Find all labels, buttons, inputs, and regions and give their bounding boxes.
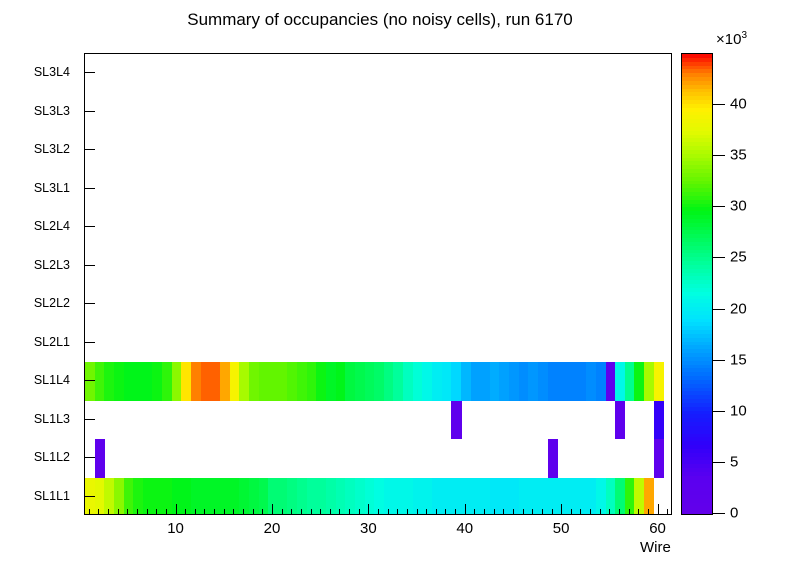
x-tick-minor	[590, 509, 591, 515]
x-tick-minor	[339, 509, 340, 515]
heatmap-cell	[654, 362, 664, 401]
x-tick-minor	[571, 509, 572, 515]
x-tick-minor	[436, 509, 437, 515]
x-tick-label-30: 30	[360, 520, 377, 537]
y-axis: SL3L4SL3L3SL3L2SL3L1SL2L4SL2L3SL2L2SL2L1…	[0, 53, 84, 515]
colorbar-tick-mark	[713, 104, 725, 105]
x-tick-minor	[600, 509, 601, 515]
x-tick-minor	[253, 509, 254, 515]
x-tick-minor	[484, 509, 485, 515]
y-tick-label-sl1l1: SL1L1	[34, 489, 70, 503]
colorbar-tick-label-20: 20	[730, 300, 747, 317]
x-tick-minor	[282, 509, 283, 515]
x-tick-minor	[503, 509, 504, 515]
y-tick-label-sl3l2: SL3L2	[34, 142, 70, 156]
x-tick-label-60: 60	[649, 520, 666, 537]
x-tick-minor	[195, 509, 196, 515]
x-tick-minor	[330, 509, 331, 515]
x-tick-minor	[127, 509, 128, 515]
x-tick-label-10: 10	[167, 520, 184, 537]
y-tick-mark	[84, 419, 95, 420]
colorbar-tick-mark	[713, 462, 725, 463]
x-tick-major	[272, 504, 273, 515]
x-tick-minor	[262, 509, 263, 515]
y-tick-mark	[84, 226, 95, 227]
colorbar-tick-label-35: 35	[730, 147, 747, 164]
x-tick-major	[176, 504, 177, 515]
y-tick-label-sl3l4: SL3L4	[34, 65, 70, 79]
x-tick-minor	[166, 509, 167, 515]
colorbar-tick-label-40: 40	[730, 96, 747, 113]
x-tick-minor	[455, 509, 456, 515]
y-tick-mark	[84, 265, 95, 266]
heatmap-cell	[451, 401, 461, 440]
y-tick-mark	[84, 111, 95, 112]
x-tick-minor	[629, 509, 630, 515]
x-tick-minor	[417, 509, 418, 515]
colorbar-tick-mark	[713, 360, 725, 361]
y-tick-mark	[84, 380, 95, 381]
colorbar-tick-label-10: 10	[730, 402, 747, 419]
x-tick-minor	[474, 509, 475, 515]
x-tick-minor	[349, 509, 350, 515]
y-tick-label-sl2l3: SL2L3	[34, 258, 70, 272]
heatmap-cell	[654, 439, 664, 478]
colorbar-tick-label-30: 30	[730, 198, 747, 215]
colorbar-tick-label-15: 15	[730, 351, 747, 368]
x-tick-minor	[532, 509, 533, 515]
x-tick-minor	[397, 509, 398, 515]
heatmap-cell	[644, 478, 654, 516]
x-tick-minor	[407, 509, 408, 515]
x-tick-minor	[214, 509, 215, 515]
x-tick-major	[465, 504, 466, 515]
x-tick-minor	[494, 509, 495, 515]
colorbar-tick-label-0: 0	[730, 505, 738, 522]
heatmap-cell	[548, 439, 558, 478]
x-tick-minor	[98, 509, 99, 515]
x-tick-minor	[311, 509, 312, 515]
x-tick-minor	[580, 509, 581, 515]
x-tick-minor	[619, 509, 620, 515]
heatmap-cells	[85, 54, 671, 514]
x-tick-minor	[185, 509, 186, 515]
x-tick-major	[368, 504, 369, 515]
colorbar-exponent-base: ×10	[716, 31, 741, 48]
x-tick-minor	[388, 509, 389, 515]
x-tick-minor	[233, 509, 234, 515]
colorbar-tick-mark	[713, 206, 725, 207]
y-tick-mark	[84, 457, 95, 458]
x-tick-minor	[445, 509, 446, 515]
x-tick-minor	[667, 509, 668, 515]
x-tick-minor	[301, 509, 302, 515]
y-tick-mark	[84, 342, 95, 343]
y-tick-label-sl2l1: SL2L1	[34, 335, 70, 349]
colorbar-tick-mark	[713, 513, 725, 514]
x-tick-minor	[147, 509, 148, 515]
y-tick-label-sl2l2: SL2L2	[34, 296, 70, 310]
colorbar-tick-mark	[713, 155, 725, 156]
colorbar-exponent-label: ×103	[716, 30, 747, 48]
x-tick-label-20: 20	[264, 520, 281, 537]
heatmap-cell	[615, 401, 625, 440]
x-tick-minor	[638, 509, 639, 515]
x-tick-minor	[118, 509, 119, 515]
x-tick-minor	[320, 509, 321, 515]
x-tick-minor	[291, 509, 292, 515]
x-tick-major	[658, 504, 659, 515]
y-tick-label-sl1l2: SL1L2	[34, 450, 70, 464]
y-tick-mark	[84, 496, 95, 497]
heatmap-cell	[95, 439, 105, 478]
x-axis-title: Wire	[640, 539, 671, 556]
page-title: Summary of occupancies (no noisy cells),…	[0, 10, 760, 30]
plot-area[interactable]	[84, 53, 672, 515]
x-tick-minor	[513, 509, 514, 515]
x-tick-major	[561, 504, 562, 515]
y-tick-label-sl1l4: SL1L4	[34, 373, 70, 387]
x-tick-minor	[648, 509, 649, 515]
colorbar-tick-mark	[713, 411, 725, 412]
x-tick-minor	[89, 509, 90, 515]
x-tick-minor	[224, 509, 225, 515]
colorbar-tick-mark	[713, 257, 725, 258]
x-tick-minor	[204, 509, 205, 515]
colorbar-exponent-power: 3	[741, 30, 747, 41]
colorbar-tick-mark	[713, 309, 725, 310]
colorbar-tick-label-25: 25	[730, 249, 747, 266]
x-tick-label-40: 40	[456, 520, 473, 537]
x-tick-minor	[609, 509, 610, 515]
y-tick-mark	[84, 72, 95, 73]
y-tick-label-sl3l1: SL3L1	[34, 181, 70, 195]
x-tick-minor	[156, 509, 157, 515]
heatmap-cell	[654, 401, 664, 440]
y-tick-label-sl2l4: SL2L4	[34, 219, 70, 233]
x-tick-minor	[523, 509, 524, 515]
x-tick-minor	[426, 509, 427, 515]
colorbar-tick-label-5: 5	[730, 453, 738, 470]
x-tick-minor	[542, 509, 543, 515]
root-canvas: Summary of occupancies (no noisy cells),…	[0, 0, 796, 572]
y-tick-mark	[84, 149, 95, 150]
y-tick-mark	[84, 303, 95, 304]
y-tick-mark	[84, 188, 95, 189]
x-tick-minor	[359, 509, 360, 515]
x-tick-minor	[137, 509, 138, 515]
x-tick-minor	[243, 509, 244, 515]
x-tick-minor	[378, 509, 379, 515]
x-tick-minor	[108, 509, 109, 515]
y-tick-label-sl1l3: SL1L3	[34, 412, 70, 426]
colorbar-axis: 0510152025303540	[681, 53, 741, 515]
x-tick-label-50: 50	[553, 520, 570, 537]
x-tick-minor	[552, 509, 553, 515]
y-tick-label-sl3l3: SL3L3	[34, 104, 70, 118]
